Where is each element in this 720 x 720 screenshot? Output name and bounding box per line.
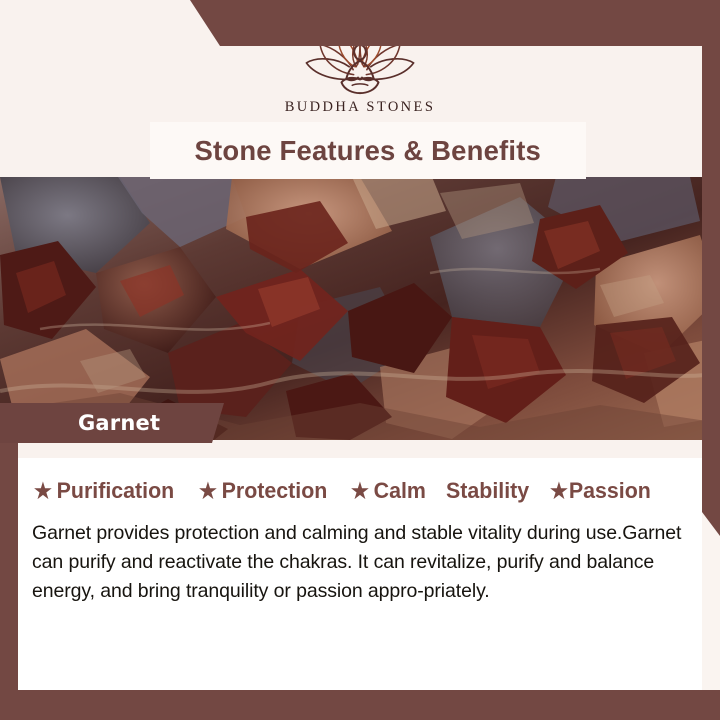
feature-label: Passion: [569, 478, 651, 504]
feature-item-calm: ★Calm: [351, 478, 426, 504]
feature-item-protection: ★Protection: [199, 478, 327, 504]
stone-description: Garnet provides protection and calming a…: [32, 519, 684, 606]
infographic-card: BUDDHA STONES: [0, 0, 720, 720]
star-icon: ★: [34, 481, 52, 502]
feature-label: Purification: [57, 478, 175, 504]
stone-name: Garnet: [78, 411, 160, 435]
left-brown-rail: [0, 424, 18, 696]
feature-list: ★Purification★Protection★CalmStability★P…: [34, 478, 694, 504]
bottom-brown-bar: [0, 690, 720, 720]
stone-photo: [0, 177, 720, 440]
feature-item-purification: ★Purification: [34, 478, 174, 504]
feature-item-passion: ★Passion: [550, 478, 651, 504]
star-icon: ★: [550, 481, 568, 502]
feature-label: Calm: [373, 478, 425, 504]
stone-name-banner: Garnet: [0, 403, 224, 443]
brand-name: BUDDHA STONES: [0, 99, 720, 116]
star-icon: ★: [199, 481, 217, 502]
right-brown-rail: [702, 0, 720, 536]
page-title: Stone Features & Benefits: [195, 135, 541, 167]
feature-label: Protection: [221, 478, 327, 504]
feature-item-stability: Stability: [446, 478, 529, 504]
feature-label: Stability: [446, 478, 529, 504]
page-title-plate: Stone Features & Benefits: [150, 122, 586, 179]
star-icon: ★: [351, 481, 369, 502]
